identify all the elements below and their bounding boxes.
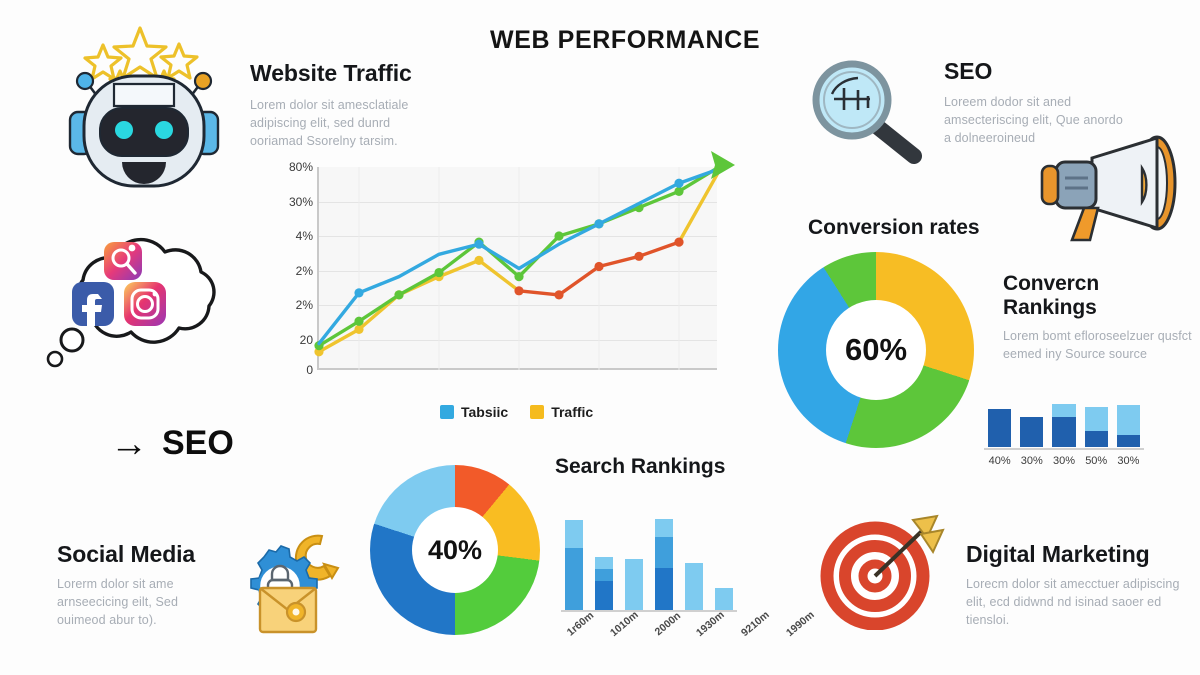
envelope-icon <box>260 588 316 632</box>
growth-arrow-icon <box>711 151 735 179</box>
convercn-rankings-labels: 40%30%30%50%30% <box>988 455 1140 467</box>
facebook-icon <box>72 282 114 326</box>
convercn-rankings-axis <box>984 448 1144 450</box>
bar-segment <box>988 409 1011 447</box>
bar-tick-label: 30% <box>1020 455 1043 467</box>
legend-swatch-yellow <box>530 405 544 419</box>
search-rankings-heading: Search Rankings <box>555 455 725 479</box>
megaphone-icon <box>1020 128 1190 243</box>
bar-tick-label: 30% <box>1117 455 1140 467</box>
bar-tick-label: 1r60m <box>565 609 596 638</box>
line-chart-legend: Tabsiic Traffic <box>440 404 593 420</box>
gear-lock-icon <box>224 528 354 648</box>
bar-column <box>988 385 1011 447</box>
bar-column <box>715 500 733 610</box>
line-chart-y-tick: 2% <box>296 298 313 312</box>
line-data-point <box>354 288 363 297</box>
line-chart-y-tick: 4% <box>296 229 313 243</box>
bar-tick-label: 1990m <box>784 609 817 639</box>
line-data-point <box>674 179 683 188</box>
website-traffic-heading: Website Traffic <box>250 60 440 87</box>
bar-segment <box>655 537 673 568</box>
bar-column <box>625 500 643 610</box>
bar-segment <box>625 559 643 610</box>
convercn-rankings-block: Convercn Rankings Lorem bomt efloroseelz… <box>1003 272 1193 364</box>
line-data-point <box>354 317 363 326</box>
legend-item-tabsiic: Tabsiic <box>440 404 508 420</box>
bar-segment <box>1052 404 1075 418</box>
search-rankings-labels: 1r60m1010m2000n1930m9210m1990m <box>565 618 733 630</box>
bar-segment <box>685 563 703 610</box>
line-data-point <box>514 272 523 281</box>
bar-tick-label: 1930m <box>694 609 727 639</box>
arrow-right-icon: → <box>110 425 148 463</box>
line-data-point <box>674 238 683 247</box>
bar-segment <box>655 519 673 538</box>
line-data-point <box>474 240 483 249</box>
page-title: WEB PERFORMANCE <box>490 26 760 55</box>
line-data-point <box>594 262 603 271</box>
seo-arrow-text: SEO <box>162 424 234 463</box>
convercn-rankings-body: Lorem bomt efloroseelzuer qusfct eemed i… <box>1003 328 1193 364</box>
search-rankings-bar-chart: Search Rankings 1r60m1010m2000n1930m9210… <box>555 455 745 650</box>
bar-tick-label: 50% <box>1085 455 1108 467</box>
bar-tick-label: 30% <box>1052 455 1075 467</box>
convercn-rankings-bar-chart: 40%30%30%50%30% <box>980 385 1150 475</box>
line-chart-y-axis: 80%30%4%2%2%200 <box>255 155 313 370</box>
digital-marketing-heading: Digital Marketing <box>966 541 1181 568</box>
bar-segment <box>1085 431 1108 447</box>
bar-segment <box>1020 417 1043 447</box>
social-media-block: Social Media Lorerm dolor sit ame arnsee… <box>57 541 217 629</box>
donut-mid-value: 40% <box>428 535 482 566</box>
infographic-canvas: WEB PERFORMANCE <box>0 0 1200 675</box>
bar-segment <box>715 588 733 610</box>
website-traffic-block: Website Traffic Lorem dolor sit amesclat… <box>250 60 440 150</box>
seo-right-heading: SEO <box>944 58 1124 85</box>
digital-marketing-body: Lorecm dolor sit amecctuer adipiscing el… <box>966 576 1181 629</box>
bar-segment <box>595 581 613 610</box>
line-data-point <box>354 325 363 334</box>
conversion-rates-heading: Conversion rates <box>808 216 980 240</box>
legend-label-traffic: Traffic <box>551 404 593 420</box>
bar-segment <box>595 557 613 569</box>
line-data-point <box>514 286 523 295</box>
digital-marketing-block: Digital Marketing Lorecm dolor sit amecc… <box>966 541 1181 629</box>
search-rankings-donut: 40% <box>370 465 550 635</box>
bar-column <box>1085 385 1108 447</box>
robot-icon <box>48 16 248 196</box>
line-chart-y-tick: 30% <box>289 195 313 209</box>
line-chart-y-tick: 80% <box>289 160 313 174</box>
line-chart-y-tick: 0 <box>306 363 313 377</box>
bar-tick-label: 1010m <box>608 609 641 639</box>
social-media-body: Lorerm dolor sit ame arnseecicing eilt, … <box>57 576 217 629</box>
bar-column <box>655 500 673 610</box>
line-chart-y-tick: 2% <box>296 264 313 278</box>
bar-tick-label: 2000n <box>652 610 683 638</box>
legend-swatch-blue <box>440 405 454 419</box>
line-data-point <box>554 231 563 240</box>
bar-segment <box>1085 407 1108 431</box>
legend-label-tabsiic: Tabsiic <box>461 404 508 420</box>
line-data-point <box>554 290 563 299</box>
bar-tick-label: 9210m <box>739 609 772 639</box>
bar-column <box>565 500 583 610</box>
website-traffic-line-chart: 80%30%4%2%2%200 <box>255 155 735 395</box>
convercn-rankings-heading: Convercn Rankings <box>1003 272 1193 320</box>
bar-segment <box>565 520 583 549</box>
magnifying-glass-icon <box>800 52 930 170</box>
donut-center-mid: 40% <box>412 507 498 593</box>
bar-segment <box>1117 405 1140 435</box>
bar-segment <box>1052 417 1075 447</box>
website-traffic-body: Lorem dolor sit amesclatiale adipiscing … <box>250 97 440 150</box>
bar-tick-label: 40% <box>988 455 1011 467</box>
line-data-point <box>434 268 443 277</box>
bar-column <box>595 500 613 610</box>
social-media-cloud-icon <box>38 228 233 373</box>
search-profile-icon <box>104 242 142 280</box>
line-data-point <box>394 290 403 299</box>
convercn-rankings-bars <box>988 385 1140 447</box>
line-data-point <box>674 187 683 196</box>
line-chart-y-tick: 20 <box>300 333 313 347</box>
social-media-heading: Social Media <box>57 541 217 568</box>
bar-column <box>1052 385 1075 447</box>
bar-segment <box>595 569 613 581</box>
conversion-rates-donut: 60% <box>778 252 978 452</box>
line-data-point <box>474 256 483 265</box>
legend-item-traffic: Traffic <box>530 404 593 420</box>
instagram-icon <box>124 282 166 326</box>
bar-segment <box>655 568 673 610</box>
bar-column <box>685 500 703 610</box>
line-chart-plot <box>317 167 717 370</box>
donut-center-big: 60% <box>826 300 926 400</box>
bar-segment <box>1117 435 1140 447</box>
bar-column <box>1020 385 1043 447</box>
line-data-point <box>594 219 603 228</box>
bar-column <box>1117 385 1140 447</box>
bar-segment <box>565 548 583 610</box>
seo-arrow-label: → SEO <box>110 424 234 463</box>
search-rankings-bars <box>565 500 733 610</box>
target-arrow-icon <box>815 508 950 630</box>
donut-big-value: 60% <box>845 332 907 368</box>
line-data-point <box>634 252 643 261</box>
